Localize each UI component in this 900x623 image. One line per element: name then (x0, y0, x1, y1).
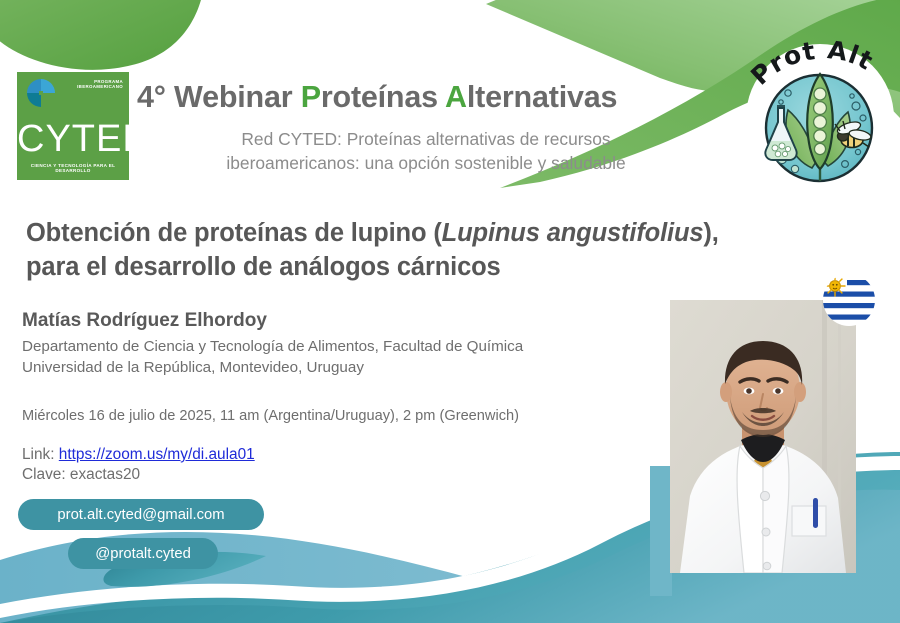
webinar-poster: PROGRAMA IBEROAMERICANO CYTED CIENCIA Y … (0, 0, 900, 623)
speaker-affiliation: Departamento de Ciencia y Tecnología de … (22, 337, 523, 378)
title-accent-p: P (301, 80, 321, 114)
cyted-wordmark: CYTED (17, 120, 129, 158)
event-link-row: Link: https://zoom.us/my/di.aula01 (22, 444, 255, 466)
contact-social-text: @protalt.cyted (95, 546, 191, 562)
pinwheel-icon (26, 78, 56, 108)
title-accent-a: A (445, 80, 467, 114)
subtitle-line-2: iberoamericanos: una opción sostenible y… (137, 151, 715, 175)
heading-scientific-name: Lupinus angustifolius (442, 219, 704, 247)
title-segment-alternativas: lternativas (467, 80, 617, 114)
cyted-logo: PROGRAMA IBEROAMERICANO CYTED CIENCIA Y … (17, 72, 129, 180)
webinar-subtitle: Red CYTED: Proteínas alternativas de rec… (137, 127, 715, 175)
uruguay-flag-icon (823, 274, 875, 326)
link-label: Link: (22, 446, 59, 463)
teal-tab-behind-photo (650, 466, 672, 596)
heading-segment-1: Obtención de proteínas de lupino ( (26, 219, 442, 247)
title-segment-proteinas: roteínas (321, 80, 445, 114)
webinar-title: 4° Webinar Proteínas Alternativas (137, 80, 617, 115)
event-passcode: Clave: exactas20 (22, 466, 140, 484)
contact-email-badge[interactable]: prot.alt.cyted@gmail.com (18, 499, 264, 530)
contact-email-text: prot.alt.cyted@gmail.com (57, 507, 224, 523)
subtitle-line-1: Red CYTED: Proteínas alternativas de rec… (137, 127, 715, 151)
green-blob-left (0, 0, 205, 70)
cyted-program-text: PROGRAMA IBEROAMERICANO (77, 79, 123, 90)
protalt-logo: Prot Alt (748, 36, 890, 184)
speaker-name: Matías Rodríguez Elhordoy (22, 310, 267, 332)
speaker-photo (670, 300, 856, 573)
page-title: Obtención de proteínas de lupino (Lupinu… (26, 216, 866, 284)
event-datetime: Miércoles 16 de julio de 2025, 11 am (Ar… (22, 408, 519, 424)
heading-segment-2: ), (703, 219, 718, 247)
cyted-tagline: CIENCIA Y TECNOLOGÍA PARA EL DESARROLLO (17, 163, 129, 173)
title-segment-number: 4° Webinar (137, 80, 301, 114)
contact-social-badge[interactable]: @protalt.cyted (68, 538, 218, 569)
heading-line-2: para el desarrollo de análogos cárnicos (26, 253, 501, 281)
zoom-link[interactable]: https://zoom.us/my/di.aula01 (59, 446, 255, 463)
